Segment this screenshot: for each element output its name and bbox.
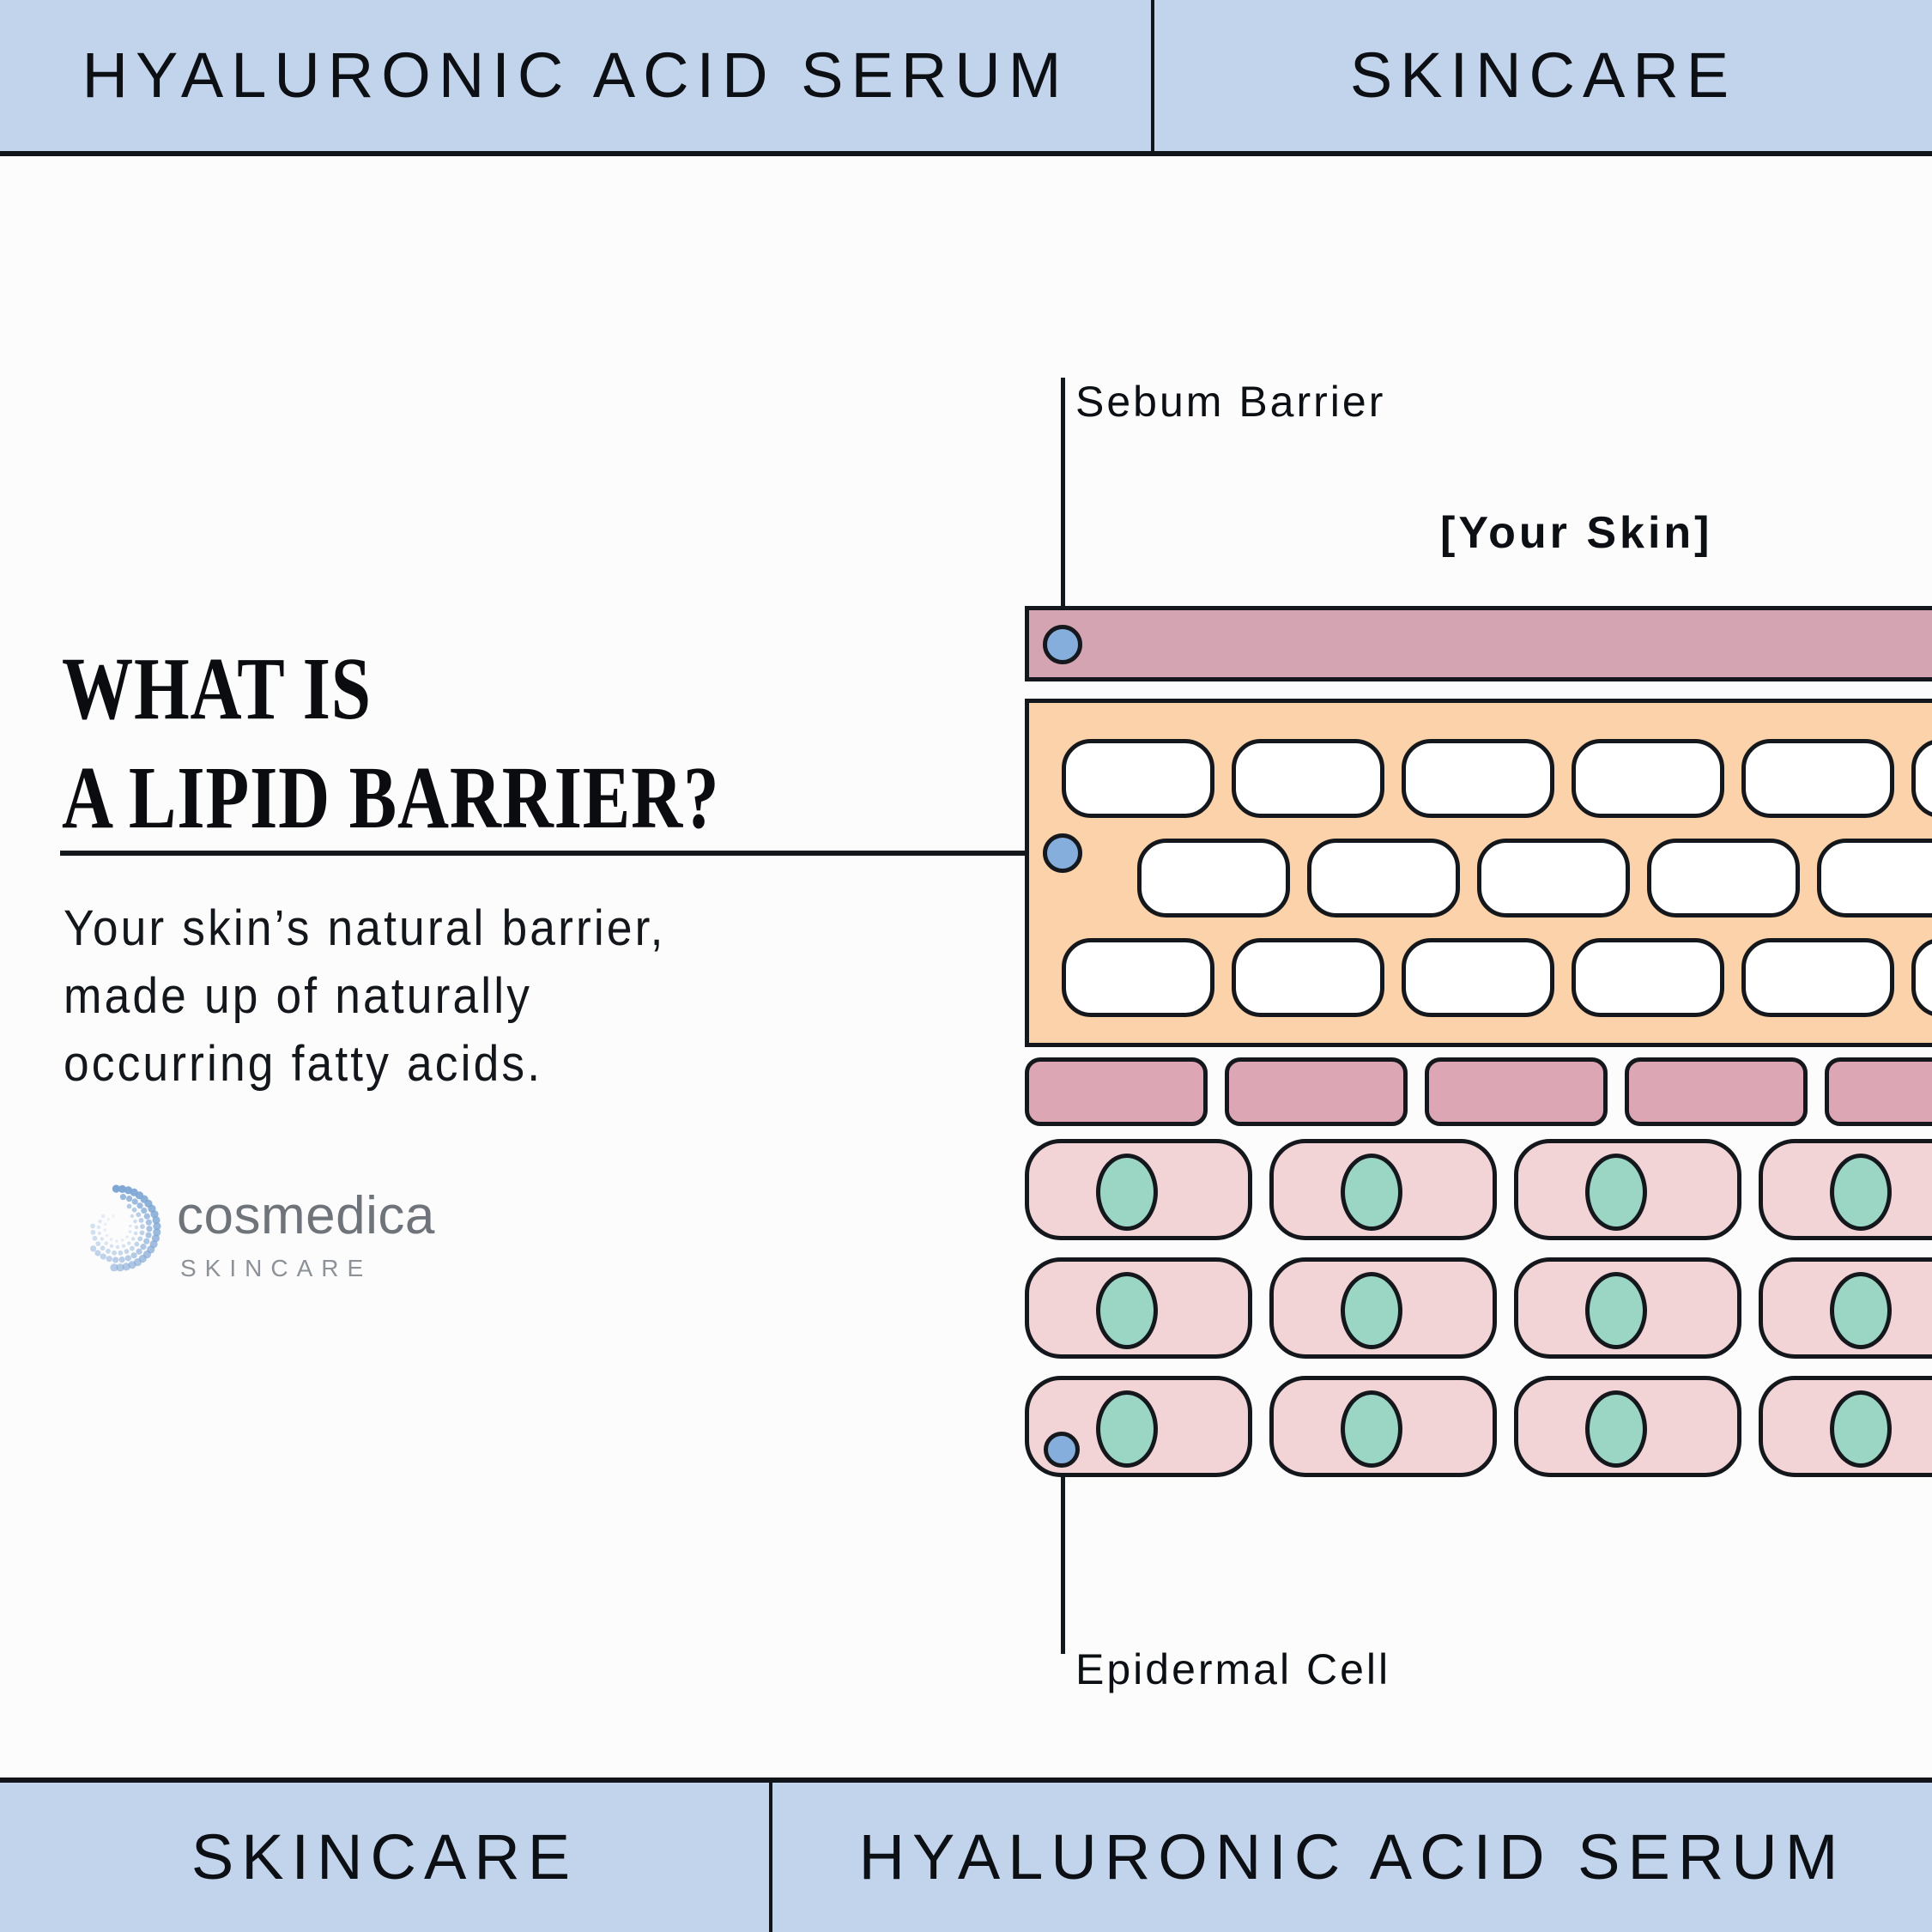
bottom-banner-left-label: SKINCARE — [191, 1826, 578, 1889]
granular-band-cell — [1825, 1057, 1932, 1126]
sebum-barrier-label: Sebum Barrier — [1075, 380, 1385, 423]
lipid-brick — [1647, 839, 1800, 918]
epidermal-cell — [1025, 1139, 1252, 1240]
lipid-brick — [1402, 739, 1554, 818]
epidermal-cell — [1269, 1139, 1497, 1240]
lipid-brick — [1911, 739, 1932, 818]
your-skin-label: [Your Skin] — [1440, 511, 1712, 555]
lipid-brick — [1137, 839, 1290, 918]
bottom-banner-left-cell: SKINCARE — [0, 1783, 772, 1932]
sebum-barrier-band — [1025, 606, 1932, 681]
epidermal-cell — [1759, 1139, 1932, 1240]
lipid-brick — [1817, 839, 1932, 918]
epidermal-callout-dot — [1044, 1432, 1080, 1468]
lipid-brick — [1572, 739, 1724, 818]
lipid-brick — [1062, 938, 1214, 1017]
lipid-barrier-block — [1025, 699, 1932, 1047]
lipid-brick — [1911, 938, 1932, 1017]
lipid-brick — [1477, 839, 1630, 918]
cell-nucleus — [1096, 1154, 1158, 1231]
granular-band-cell — [1625, 1057, 1808, 1126]
lipid-brick — [1741, 938, 1894, 1017]
epidermal-cell — [1759, 1376, 1932, 1477]
bottom-banner-right-cell: HYALURONIC ACID SERUM — [772, 1783, 1932, 1932]
lipid-brick — [1741, 739, 1894, 818]
lipid-callout-dot — [1043, 833, 1082, 873]
skin-cross-section-diagram: Sebum Barrier [Your Skin] Epidermal Cell — [0, 0, 1932, 1932]
epidermal-cell — [1269, 1257, 1497, 1359]
bottom-banner: SKINCARE HYALURONIC ACID SERUM — [0, 1778, 1932, 1932]
sebum-leader-line — [1061, 378, 1065, 627]
granular-band-cell — [1425, 1057, 1608, 1126]
lipid-brick — [1062, 739, 1214, 818]
cell-nucleus — [1585, 1272, 1647, 1349]
epidermal-cell — [1269, 1376, 1497, 1477]
epidermal-cell — [1514, 1139, 1741, 1240]
cell-nucleus — [1830, 1272, 1892, 1349]
epidermal-cell-label: Epidermal Cell — [1075, 1648, 1390, 1691]
bottom-banner-right-label: HYALURONIC ACID SERUM — [859, 1826, 1846, 1889]
lipid-brick — [1232, 739, 1384, 818]
cell-nucleus — [1341, 1154, 1402, 1231]
lipid-leader-line — [60, 851, 1064, 856]
lipid-brick — [1572, 938, 1724, 1017]
sebum-callout-dot — [1043, 625, 1082, 664]
cell-nucleus — [1096, 1272, 1158, 1349]
lipid-brick — [1402, 938, 1554, 1017]
cell-nucleus — [1830, 1390, 1892, 1468]
epidermal-cell — [1025, 1257, 1252, 1359]
cell-nucleus — [1341, 1272, 1402, 1349]
epidermal-cell — [1514, 1257, 1741, 1359]
epidermal-cell — [1759, 1257, 1932, 1359]
cell-nucleus — [1585, 1390, 1647, 1468]
epidermal-cell — [1514, 1376, 1741, 1477]
infographic-page: HYALURONIC ACID SERUM SKINCARE WHAT IS A… — [0, 0, 1932, 1932]
lipid-brick — [1232, 938, 1384, 1017]
epidermal-leader-line — [1061, 1469, 1065, 1654]
granular-band-cell — [1025, 1057, 1208, 1126]
lipid-brick — [1307, 839, 1460, 918]
granular-band-cell — [1225, 1057, 1408, 1126]
cell-nucleus — [1830, 1154, 1892, 1231]
cell-nucleus — [1341, 1390, 1402, 1468]
cell-nucleus — [1096, 1390, 1158, 1468]
cell-nucleus — [1585, 1154, 1647, 1231]
